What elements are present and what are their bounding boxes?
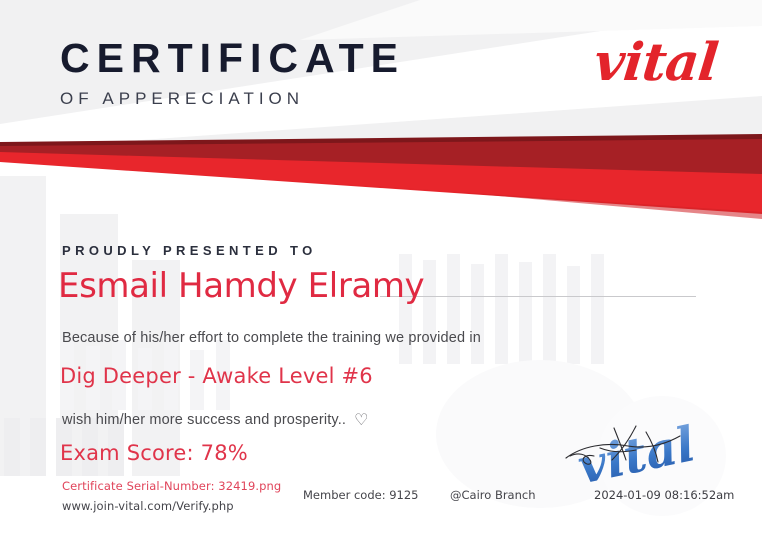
signature-stamp: vital [560,412,730,492]
recipient-name-underline [380,296,696,297]
member-code: Member code: 9125 [303,488,419,502]
vital-logo-text: vital [564,34,720,92]
certificate-document: CERTIFICATE OF APPERECIATION vital PROUD… [0,0,762,539]
verify-url[interactable]: www.join-vital.com/Verify.php [62,499,234,513]
presented-to-label: PROUDLY PRESENTED TO [62,243,317,258]
serial-number: Certificate Serial-Number: 32419.png [62,479,281,493]
reason-line: Because of his/her effort to complete th… [62,330,481,346]
heart-icon: ♡ [354,410,369,430]
recipient-name: Esmail Hamdy Elramy [58,266,424,306]
wish-line-text: wish him/her more success and prosperity… [62,412,346,428]
issued-timestamp: 2024-01-09 08:16:52am [594,488,734,502]
course-name: Dig Deeper - Awake Level #6 [60,364,373,388]
branch-label: @Cairo Branch [450,488,536,502]
red-ribbon-decoration [0,118,762,228]
certificate-title-block: CERTIFICATE OF APPERECIATION [60,36,405,111]
page-title: CERTIFICATE [60,36,405,81]
vital-logo: vital [567,34,717,92]
exam-score: Exam Score: 78% [60,441,248,465]
signature-stamp-text: vital [573,416,700,492]
wish-line-container: wish him/her more success and prosperity… [62,410,369,430]
page-subtitle: OF APPERECIATION [60,87,405,111]
